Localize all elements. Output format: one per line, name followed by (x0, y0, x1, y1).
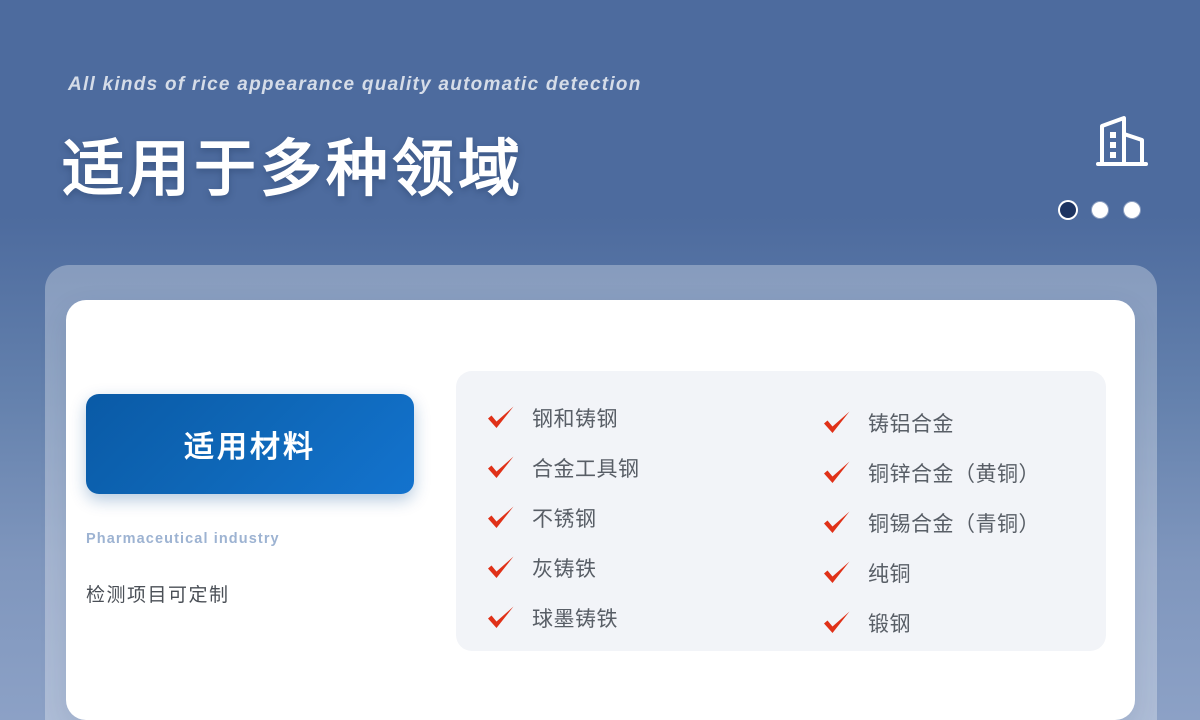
materials-list-box: 钢和铸钢 合金工具钢 不锈钢 (456, 371, 1106, 651)
industry-subtitle-en: Pharmaceutical industry (86, 531, 416, 547)
material-label: 不锈钢 (532, 503, 597, 533)
materials-column-left: 钢和铸钢 合金工具钢 不锈钢 (456, 393, 770, 651)
check-icon (486, 555, 516, 581)
header-eyebrow: All kinds of rice appearance quality aut… (68, 74, 642, 96)
materials-column-right: 铸铝合金 铜锌合金（黄铜） 铜锡合金（青铜） (770, 393, 1106, 651)
page-title: 适用于多种领域 (62, 118, 524, 208)
list-item: 不锈钢 (486, 493, 770, 543)
left-column: 适用材料 Pharmaceutical industry 检测项目可定制 (86, 394, 416, 607)
material-label: 铸铝合金 (868, 408, 954, 438)
check-icon (486, 605, 516, 631)
material-label: 铜锡合金（青铜） (868, 508, 1040, 538)
list-item: 钢和铸钢 (486, 393, 770, 443)
list-item: 纯铜 (822, 548, 1106, 598)
check-icon (822, 410, 852, 436)
carousel-dots[interactable] (1060, 202, 1140, 218)
check-icon (486, 405, 516, 431)
customizable-note: 检测项目可定制 (86, 580, 416, 607)
carousel-dot-2[interactable] (1092, 202, 1108, 218)
building-icon (1090, 110, 1154, 174)
material-label: 纯铜 (868, 558, 911, 588)
carousel-dot-1[interactable] (1060, 202, 1076, 218)
list-item: 灰铸铁 (486, 543, 770, 593)
check-icon (822, 510, 852, 536)
list-item: 铸铝合金 (822, 398, 1106, 448)
carousel-dot-3[interactable] (1124, 202, 1140, 218)
list-item: 球墨铸铁 (486, 593, 770, 643)
list-item: 锻钢 (822, 598, 1106, 648)
check-icon (486, 455, 516, 481)
material-label: 灰铸铁 (532, 553, 597, 583)
material-label: 锻钢 (868, 608, 911, 638)
applicable-materials-button[interactable]: 适用材料 (86, 394, 414, 494)
list-item: 合金工具钢 (486, 443, 770, 493)
check-icon (486, 505, 516, 531)
material-label: 球墨铸铁 (532, 603, 618, 633)
check-icon (822, 460, 852, 486)
check-icon (822, 610, 852, 636)
list-item: 铜锌合金（黄铜） (822, 448, 1106, 498)
slide-root: All kinds of rice appearance quality aut… (0, 0, 1200, 720)
list-item: 铜锡合金（青铜） (822, 498, 1106, 548)
material-label: 钢和铸钢 (532, 403, 618, 433)
check-icon (822, 560, 852, 586)
material-label: 合金工具钢 (532, 453, 640, 483)
material-label: 铜锌合金（黄铜） (868, 458, 1040, 488)
